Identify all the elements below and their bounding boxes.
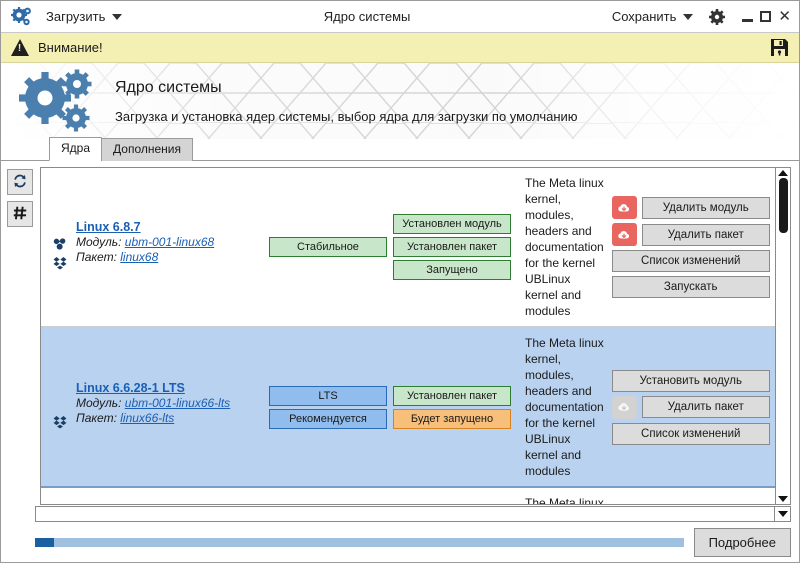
load-menu-label: Загрузить <box>46 9 105 24</box>
kernel-actions: Установить модульУдалить пакетСписок изм… <box>612 370 770 445</box>
package-label: Пакет: <box>76 411 117 425</box>
gear-icon[interactable] <box>708 8 726 26</box>
floppy-save-icon[interactable] <box>770 38 789 57</box>
vertical-scrollbar[interactable] <box>775 168 790 504</box>
action-button[interactable]: Запускать <box>612 276 770 298</box>
banner-texts: Ядро системы Загрузка и установка ядер с… <box>115 79 578 124</box>
package-label: Пакет: <box>76 250 117 264</box>
kernel-icons <box>53 381 71 433</box>
kernel-description: The Meta linux kernel, modules, headers … <box>511 175 612 319</box>
module-label: Модуль: <box>76 396 121 410</box>
kernel-name-link[interactable]: Linux 6.8.7 <box>76 220 214 234</box>
hscroll-track[interactable] <box>35 506 775 522</box>
status-badge: Установлен модуль <box>393 214 511 234</box>
tab-extras[interactable]: Дополнения <box>101 138 193 161</box>
module-blocks-icon <box>53 237 71 254</box>
package-box-icon <box>53 256 71 273</box>
kernel-info: Linux 6.6.28-1 LTSМодуль: ubm-001-linux6… <box>47 381 269 433</box>
kernel-badges-left: LTSРекомендуется <box>269 386 387 429</box>
warning-triangle-icon <box>11 39 29 56</box>
action-row: Установить модуль <box>612 370 770 392</box>
titlebar-right: Сохранить ✕ <box>609 7 791 26</box>
hash-button[interactable] <box>7 201 33 227</box>
scrollbar-thumb[interactable] <box>779 178 788 233</box>
hash-icon <box>12 205 28 224</box>
window-title: Ядро системы <box>125 9 608 24</box>
cloud-remove-icon[interactable] <box>612 396 637 419</box>
action-row: Список изменений <box>612 250 770 272</box>
action-button[interactable]: Установить модуль <box>612 370 770 392</box>
kernel-info: Linux 6.8.7Модуль: ubm-001-linux68Пакет:… <box>47 220 269 274</box>
action-button[interactable]: Список изменений <box>612 250 770 272</box>
status-badge: Запущено <box>393 260 511 280</box>
progress-bar <box>35 538 684 547</box>
warning-text: Внимание! <box>38 40 761 55</box>
page-title: Ядро системы <box>115 79 578 97</box>
kernel-description: The Meta linux kernel, modules, headers … <box>511 495 612 504</box>
body-area: Linux 6.8.7Модуль: ubm-001-linux68Пакет:… <box>1 161 799 505</box>
kernel-row[interactable]: Linux 6.6.23 RT LTSМодуль: ubm-001-linux… <box>41 488 775 504</box>
cloud-remove-icon[interactable] <box>612 196 637 219</box>
status-badge: LTS <box>269 386 387 406</box>
kernel-row[interactable]: Linux 6.8.7Модуль: ubm-001-linux68Пакет:… <box>41 168 775 328</box>
kernel-texts: Linux 6.6.28-1 LTSМодуль: ubm-001-linux6… <box>76 381 230 433</box>
gears-icon <box>11 7 33 27</box>
refresh-button[interactable] <box>7 169 33 195</box>
hscroll-down-button[interactable] <box>775 506 791 522</box>
action-button[interactable]: Удалить пакет <box>642 396 770 418</box>
module-link[interactable]: ubm-001-linux68 <box>125 235 214 249</box>
status-badge: Будет запущено <box>393 409 511 429</box>
kernel-actions: Удалить модульУдалить пакетСписок измене… <box>612 196 770 298</box>
horizontal-scrollbar[interactable] <box>35 506 791 522</box>
status-badge: Стабильное <box>269 237 387 257</box>
kernel-package-line: Пакет: linux68 <box>76 250 214 264</box>
icon-spacer <box>53 381 71 396</box>
action-row: Удалить модуль <box>612 196 770 219</box>
action-row: Удалить пакет <box>612 396 770 419</box>
chevron-down-icon <box>683 14 693 20</box>
maximize-icon[interactable] <box>760 11 771 22</box>
warning-bar: Внимание! <box>1 33 799 63</box>
icon-spacer <box>53 220 71 235</box>
kernel-badges-right: Установлен пакетБудет запущено <box>393 386 511 429</box>
save-menu-label: Сохранить <box>612 9 677 24</box>
tab-bar: Ядра Дополнения <box>1 139 799 161</box>
refresh-icon <box>12 173 28 192</box>
icon-spacer <box>53 398 71 413</box>
banner-content: Ядро системы Загрузка и установка ядер с… <box>1 68 578 134</box>
action-button[interactable]: Удалить модуль <box>642 197 770 219</box>
package-box-icon <box>53 415 71 432</box>
kernel-list: Linux 6.8.7Модуль: ubm-001-linux68Пакет:… <box>41 168 775 504</box>
banner: Ядро системы Загрузка и установка ядер с… <box>1 63 799 139</box>
footer: Подробнее <box>1 522 799 562</box>
tab-kernels[interactable]: Ядра <box>49 137 102 161</box>
progress-bar-fill <box>35 538 54 547</box>
cloud-remove-icon[interactable] <box>612 223 637 246</box>
action-button[interactable]: Удалить пакет <box>642 224 770 246</box>
kernel-row[interactable]: Linux 6.6.28-1 LTSМодуль: ubm-001-linux6… <box>41 328 775 488</box>
action-row: Удалить пакет <box>612 223 770 246</box>
save-menu-button[interactable]: Сохранить <box>609 7 697 26</box>
scrollbar-thumb-area[interactable] <box>776 176 790 496</box>
action-row: Запускать <box>612 276 770 298</box>
side-toolbar <box>7 167 35 505</box>
page-subtitle: Загрузка и установка ядер системы, выбор… <box>115 109 578 124</box>
kernel-module-line: Модуль: ubm-001-linux66-lts <box>76 396 230 410</box>
scroll-down-icon[interactable] <box>778 496 788 502</box>
action-button[interactable]: Список изменений <box>612 423 770 445</box>
kernel-package-line: Пакет: linux66-lts <box>76 411 230 425</box>
load-menu-button[interactable]: Загрузить <box>43 7 125 26</box>
kernel-texts: Linux 6.8.7Модуль: ubm-001-linux68Пакет:… <box>76 220 214 274</box>
status-badge: Рекомендуется <box>269 409 387 429</box>
kernel-badges-left: Стабильное <box>269 237 387 257</box>
chevron-down-icon <box>778 511 788 517</box>
module-label: Модуль: <box>76 235 121 249</box>
kernel-icons <box>53 220 71 274</box>
status-badge: Установлен пакет <box>393 237 511 257</box>
kernel-name-link[interactable]: Linux 6.6.28-1 LTS <box>76 381 230 395</box>
titlebar: Загрузить Ядро системы Сохранить <box>1 1 799 33</box>
close-icon[interactable]: ✕ <box>778 11 791 22</box>
status-badge: Установлен пакет <box>393 386 511 406</box>
app-window: Загрузить Ядро системы Сохранить <box>0 0 800 563</box>
kernel-badges-right: Установлен модульУстановлен пакетЗапущен… <box>393 214 511 280</box>
titlebar-left: Загрузить <box>11 7 125 27</box>
kernel-list-panel: Linux 6.8.7Модуль: ubm-001-linux68Пакет:… <box>40 167 791 505</box>
gears-icon <box>19 68 99 134</box>
package-link[interactable]: linux68 <box>120 250 158 264</box>
window-controls: ✕ <box>742 11 791 22</box>
module-link[interactable]: ubm-001-linux66-lts <box>125 396 230 410</box>
action-row: Список изменений <box>612 423 770 445</box>
chevron-down-icon <box>112 14 122 20</box>
minimize-icon[interactable] <box>742 19 753 22</box>
kernel-module-line: Модуль: ubm-001-linux68 <box>76 235 214 249</box>
package-link[interactable]: linux66-lts <box>120 411 174 425</box>
kernel-description: The Meta linux kernel, modules, headers … <box>511 335 612 479</box>
details-button[interactable]: Подробнее <box>694 528 791 557</box>
